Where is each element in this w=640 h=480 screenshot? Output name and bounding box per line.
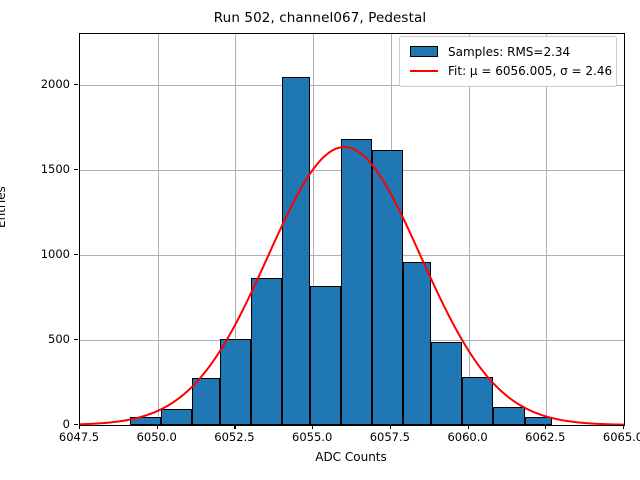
x-tick-label: 6057.5: [370, 430, 410, 444]
figure-canvas: Run 502, channel067, Pedestal 6047.56050…: [0, 0, 640, 480]
y-tick-mark: [74, 169, 78, 170]
x-tick-label: 6052.5: [214, 430, 254, 444]
y-tick-label: 0: [0, 417, 70, 431]
x-axis-label: ADC Counts: [79, 450, 623, 464]
y-axis-label: Entries: [0, 186, 8, 228]
fit-path: [80, 147, 624, 425]
legend-item-fit: Fit: μ = 6056.005, σ = 2.46: [407, 61, 609, 80]
legend-label-samples: Samples: RMS=2.34: [441, 45, 570, 59]
y-tick-mark: [74, 339, 78, 340]
chart-title: Run 502, channel067, Pedestal: [0, 10, 640, 26]
x-tick-label: 6065.0: [603, 430, 640, 444]
y-tick-mark: [74, 84, 78, 85]
x-tick-label: 6047.5: [59, 430, 99, 444]
x-tick-mark: [390, 425, 391, 429]
legend-patch-icon: [407, 42, 441, 61]
chart-legend: Samples: RMS=2.34 Fit: μ = 6056.005, σ =…: [399, 36, 617, 87]
x-tick-mark: [623, 425, 624, 429]
y-tick-mark: [74, 254, 78, 255]
x-tick-label: 6055.0: [292, 430, 332, 444]
y-tick-label: 1500: [0, 162, 70, 176]
x-tick-mark: [468, 425, 469, 429]
x-tick-label: 6060.0: [447, 430, 487, 444]
x-tick-mark: [545, 425, 546, 429]
legend-item-samples: Samples: RMS=2.34: [407, 42, 609, 61]
plot-inner: [80, 34, 624, 425]
legend-label-fit: Fit: μ = 6056.005, σ = 2.46: [441, 64, 612, 78]
legend-line-icon: [407, 61, 441, 80]
x-tick-mark: [157, 425, 158, 429]
y-tick-label: 1000: [0, 247, 70, 261]
x-tick-mark: [79, 425, 80, 429]
y-tick-label: 2000: [0, 77, 70, 91]
gaussian-fit-curve: [80, 34, 624, 425]
x-tick-mark: [312, 425, 313, 429]
x-tick-label: 6062.5: [525, 430, 565, 444]
y-tick-mark: [74, 424, 78, 425]
x-tick-label: 6050.0: [137, 430, 177, 444]
y-tick-label: 500: [0, 332, 70, 346]
x-tick-mark: [234, 425, 235, 429]
plot-axes-frame: [79, 33, 625, 426]
